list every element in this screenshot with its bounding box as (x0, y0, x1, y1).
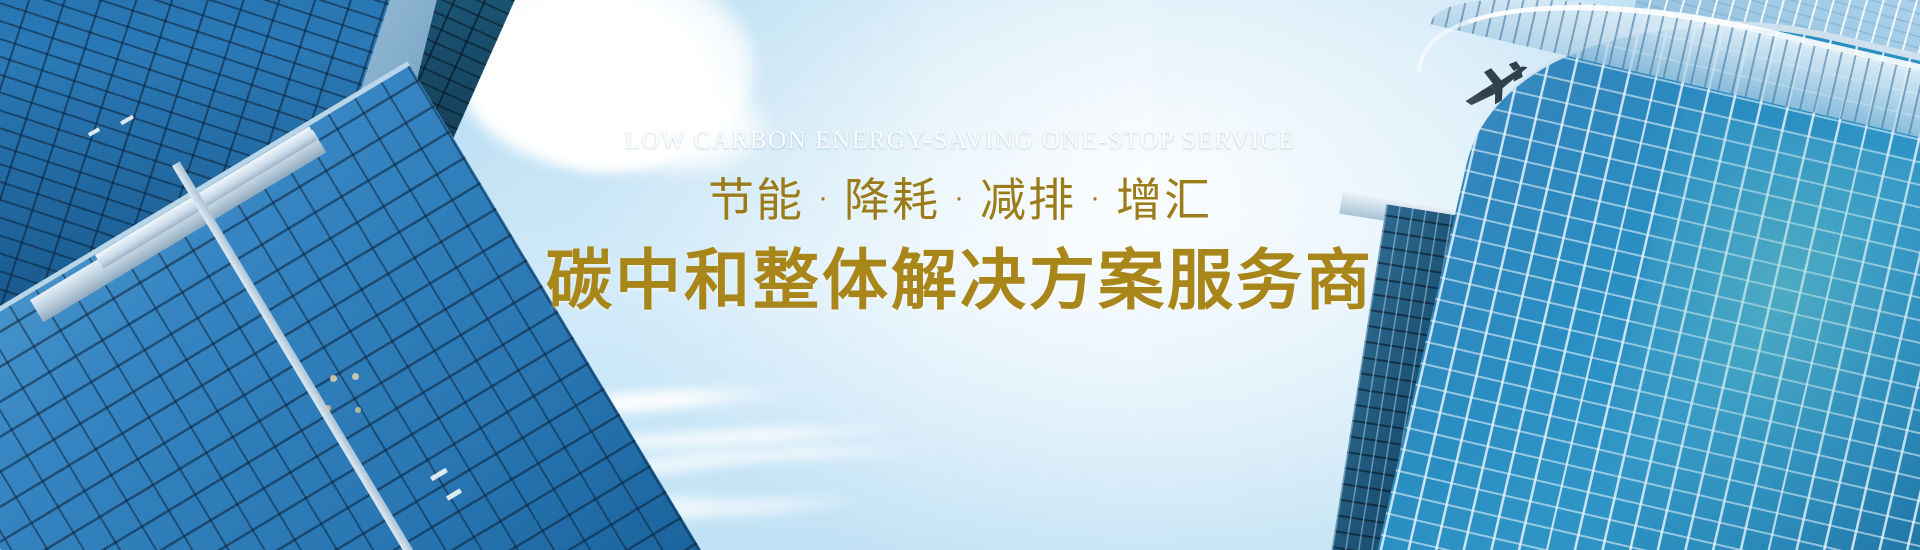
hero-banner: LOW CARBON ENERGY-SAVING ONE-STOP SERVIC… (0, 0, 1920, 550)
window-glint (352, 373, 359, 380)
cumulus-cloud-lobe (600, 80, 770, 175)
curved-glass-tower-right (1300, 0, 1920, 550)
window-glint (355, 407, 361, 413)
glass-skyscrapers-left (0, 0, 560, 550)
window-glint (330, 375, 337, 382)
airplane-silhouette (1455, 58, 1541, 118)
window-glint (325, 405, 331, 411)
